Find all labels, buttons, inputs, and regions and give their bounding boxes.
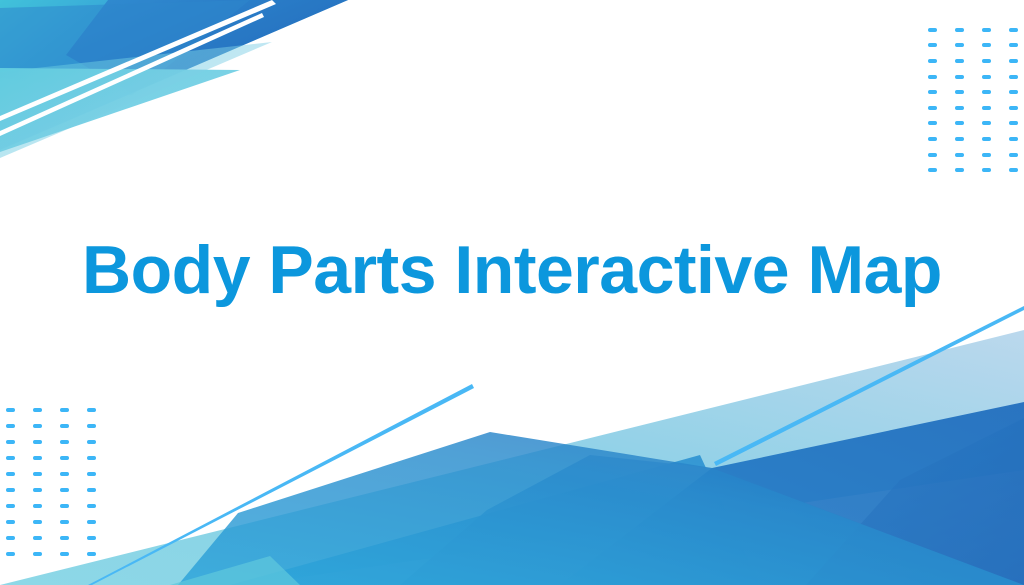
dot — [60, 536, 69, 540]
dot — [33, 440, 42, 444]
dot — [33, 472, 42, 476]
dot — [33, 536, 42, 540]
top-left-shape-group — [0, 0, 348, 158]
dot — [6, 504, 15, 508]
top-left-white-stripe-2 — [0, 0, 276, 121]
dot — [955, 43, 964, 47]
dot — [928, 106, 937, 110]
bottom-right-cyan-triangle — [230, 455, 760, 585]
top-left-white-stripe-1 — [0, 13, 264, 136]
bottom-right-foreground-apron — [178, 432, 1024, 585]
dot — [928, 59, 937, 63]
dot — [60, 408, 69, 412]
dot — [6, 408, 15, 412]
dot — [60, 552, 69, 556]
dot — [87, 456, 96, 460]
dot — [6, 440, 15, 444]
dot — [928, 28, 937, 32]
dot — [928, 121, 937, 125]
dot — [60, 424, 69, 428]
top-left-shape-facet — [0, 0, 250, 95]
dot — [60, 520, 69, 524]
dot — [928, 75, 937, 79]
dot — [1009, 75, 1018, 79]
dot — [1009, 106, 1018, 110]
dot — [87, 472, 96, 476]
dot — [87, 424, 96, 428]
dot — [6, 488, 15, 492]
dot — [955, 121, 964, 125]
dot — [33, 456, 42, 460]
bottom-left-cyan-sliver — [170, 556, 300, 585]
dot — [87, 552, 96, 556]
dot — [60, 440, 69, 444]
dot — [955, 168, 964, 172]
dot — [6, 552, 15, 556]
dot — [928, 43, 937, 47]
dot-grid-top-right — [928, 22, 1024, 178]
dot — [60, 472, 69, 476]
dot — [1009, 43, 1018, 47]
bottom-right-deep-facet — [806, 418, 1024, 585]
dot — [33, 424, 42, 428]
dot — [982, 121, 991, 125]
dot — [928, 90, 937, 94]
dot — [87, 536, 96, 540]
dot — [982, 153, 991, 157]
dot — [33, 488, 42, 492]
dot — [1009, 59, 1018, 63]
top-left-shape-cyan-band — [0, 68, 240, 152]
dot — [955, 59, 964, 63]
dot — [982, 90, 991, 94]
dot — [982, 168, 991, 172]
dot — [6, 472, 15, 476]
dot — [982, 59, 991, 63]
dot — [6, 456, 15, 460]
top-left-shape-pale-sheet — [0, 42, 272, 158]
page-title: Body Parts Interactive Map — [0, 236, 1024, 304]
dot — [1009, 168, 1018, 172]
dot — [6, 520, 15, 524]
dot — [1009, 121, 1018, 125]
dot — [6, 424, 15, 428]
bottom-left-hairline — [88, 384, 474, 585]
dot — [982, 137, 991, 141]
top-left-shape-base — [0, 0, 348, 150]
dot — [1009, 90, 1018, 94]
dot — [33, 520, 42, 524]
dot — [87, 520, 96, 524]
dot — [928, 168, 937, 172]
dot — [87, 440, 96, 444]
bottom-right-hairline — [714, 306, 1024, 466]
dot — [87, 408, 96, 412]
dot — [1009, 153, 1018, 157]
dot — [1009, 137, 1018, 141]
dot — [33, 408, 42, 412]
dot — [982, 75, 991, 79]
dot — [87, 504, 96, 508]
dot — [928, 153, 937, 157]
dot — [955, 90, 964, 94]
dot — [955, 28, 964, 32]
dot-grid-bottom-left — [6, 402, 114, 562]
top-left-shape-dark-wedge — [66, 0, 348, 93]
bottom-right-mid-slab — [400, 455, 1024, 585]
bottom-right-dark-polygon — [560, 402, 1024, 585]
dot — [955, 75, 964, 79]
dot — [955, 137, 964, 141]
bottom-right-pale-band — [0, 330, 1024, 585]
dot — [982, 28, 991, 32]
slide-canvas: Body Parts Interactive Map — [0, 0, 1024, 585]
dot — [982, 106, 991, 110]
dot — [982, 43, 991, 47]
dot — [60, 456, 69, 460]
dot — [87, 488, 96, 492]
dot — [33, 552, 42, 556]
dot — [60, 504, 69, 508]
dot — [33, 504, 42, 508]
bottom-right-shape-group — [0, 306, 1024, 585]
dot — [1009, 28, 1018, 32]
dot — [955, 153, 964, 157]
dot — [6, 536, 15, 540]
dot — [60, 488, 69, 492]
dot — [955, 106, 964, 110]
dot — [928, 137, 937, 141]
title-block: Body Parts Interactive Map — [0, 236, 1024, 304]
